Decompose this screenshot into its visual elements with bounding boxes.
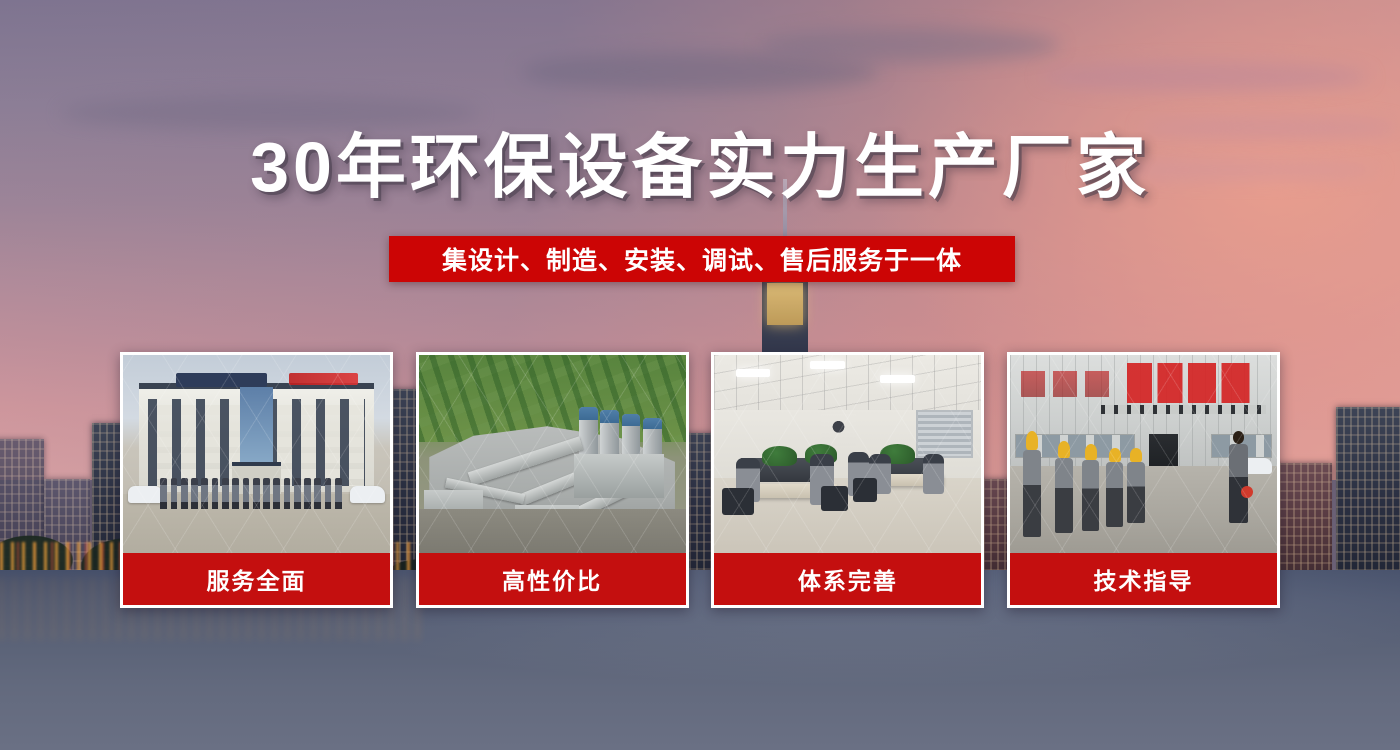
feature-card-label-text: 体系完善: [798, 562, 898, 596]
feature-card[interactable]: 体系完善: [711, 352, 984, 608]
feature-card-label: 体系完善: [714, 553, 981, 605]
feature-card-label: 服务全面: [123, 553, 390, 605]
hero-banner: 30年环保设备实力生产厂家 集设计、制造、安装、调试、售后服务于一体: [0, 0, 1400, 750]
wall-slogan: [1021, 371, 1045, 397]
staff-row: [160, 478, 358, 510]
facade-band: [1101, 405, 1267, 415]
worker: [1127, 462, 1144, 523]
wall-slogan: [1053, 371, 1077, 397]
silo: [579, 407, 598, 458]
ceiling-light: [810, 361, 845, 369]
ceiling-light: [880, 375, 915, 383]
silo: [643, 418, 662, 458]
page-title: 30年环保设备实力生产厂家: [0, 132, 1400, 202]
feature-card[interactable]: 高性价比: [416, 352, 689, 608]
window-blinds: [916, 410, 973, 458]
silo: [622, 414, 641, 458]
supervisor: [1229, 444, 1248, 523]
wall-slogan: [1085, 371, 1109, 397]
phone-signage: [289, 373, 358, 385]
building: [1336, 407, 1400, 575]
subtitle-banner: 集设计、制造、安装、调试、售后服务于一体: [389, 236, 1015, 282]
worker: [1082, 460, 1099, 531]
company-signage: [176, 373, 267, 387]
ceiling-light: [736, 369, 771, 377]
office-chair: [722, 488, 754, 516]
wall-poster: [821, 414, 856, 446]
warehouse-shed: [574, 454, 665, 498]
cloud-streak: [1040, 62, 1370, 92]
subtitle-text: 集设计、制造、安装、调试、售后服务于一体: [442, 241, 962, 277]
office-plant: [762, 446, 797, 466]
worker: [1055, 458, 1072, 533]
worker: [1023, 450, 1040, 537]
silo: [600, 410, 619, 458]
drop-ceiling: [714, 355, 981, 414]
plant-yard: [419, 509, 686, 553]
workers-training-photo: [1010, 355, 1277, 553]
aerial-plant-photo: [419, 355, 686, 553]
feature-card-label: 高性价比: [419, 553, 686, 605]
office-chair: [853, 478, 877, 502]
feature-card-label-text: 技术指导: [1093, 562, 1193, 596]
office-chair: [821, 486, 848, 512]
feature-card-label-text: 高性价比: [502, 562, 602, 596]
feature-card-list: 服务全面: [120, 352, 1280, 608]
cloud-streak: [60, 96, 480, 130]
factory-wall-text: [1127, 363, 1266, 403]
feature-card[interactable]: 服务全面: [120, 352, 393, 608]
building: [1272, 463, 1332, 575]
worker: [1106, 462, 1123, 527]
feature-card-label: 技术指导: [1010, 553, 1277, 605]
red-helmet: [1241, 486, 1253, 498]
parked-car: [128, 486, 163, 504]
seated-person: [923, 454, 944, 494]
tower-lit-crown: [767, 283, 803, 325]
office-interior-photo: [714, 355, 981, 553]
feature-card[interactable]: 技术指导: [1007, 352, 1280, 608]
feature-card-label-text: 服务全面: [207, 562, 307, 596]
cloud-streak: [760, 28, 1060, 62]
company-building-photo: [123, 355, 390, 553]
